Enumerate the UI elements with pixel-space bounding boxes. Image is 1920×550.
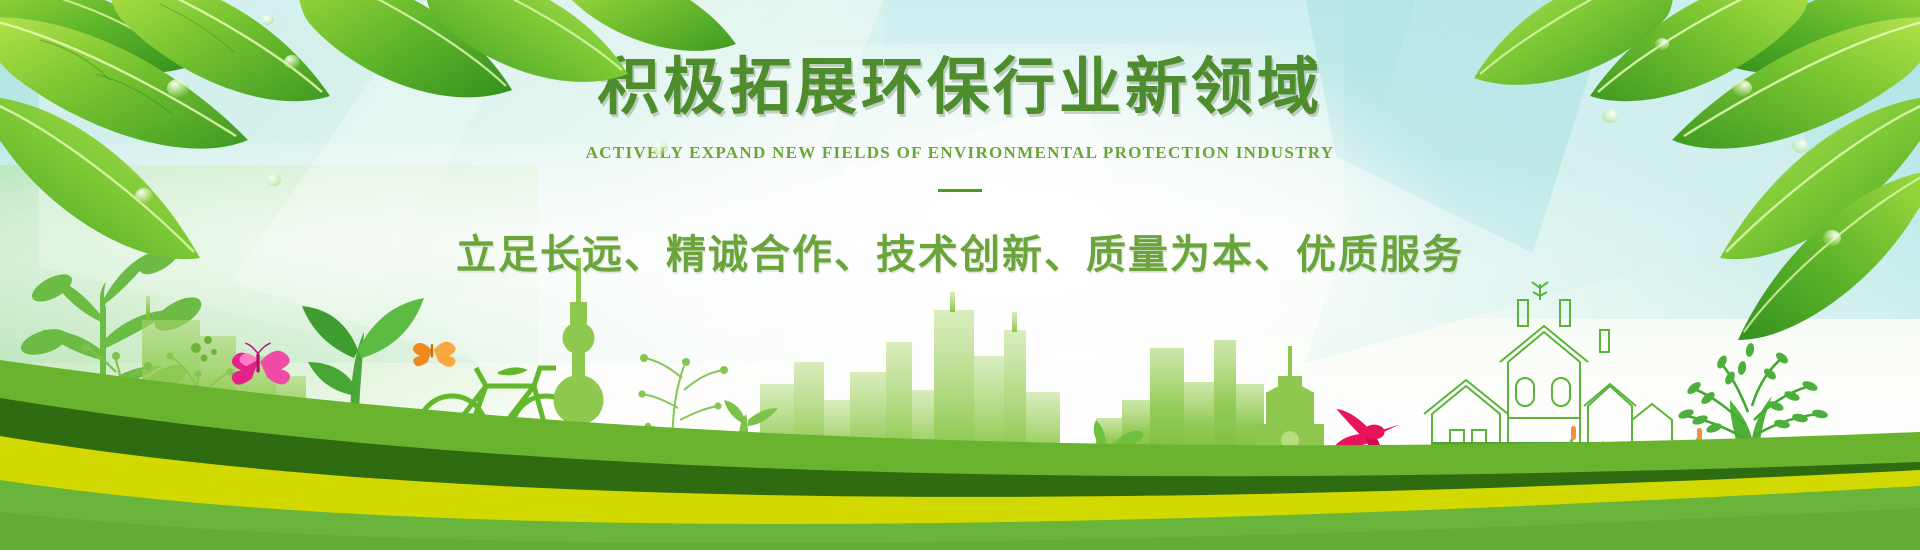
leaves-top-left bbox=[0, 0, 736, 259]
dew-drop bbox=[1823, 230, 1841, 246]
dew-drop bbox=[284, 55, 300, 69]
dew-drop bbox=[1602, 109, 1618, 123]
dew-drop bbox=[267, 174, 281, 186]
dew-drop bbox=[262, 15, 274, 25]
foreground-leaves bbox=[0, 0, 1920, 550]
dew-drop bbox=[1655, 38, 1669, 50]
dew-drop bbox=[1732, 80, 1752, 96]
dew-drop bbox=[652, 141, 668, 155]
dew-drop bbox=[135, 188, 153, 204]
leaves-top-right bbox=[1474, 0, 1920, 340]
dew-drop bbox=[1792, 139, 1808, 153]
eco-banner: 积极拓展环保行业新领域 ACTIVELY EXPAND NEW FIELDS O… bbox=[0, 0, 1920, 550]
dew-drop bbox=[167, 79, 189, 97]
